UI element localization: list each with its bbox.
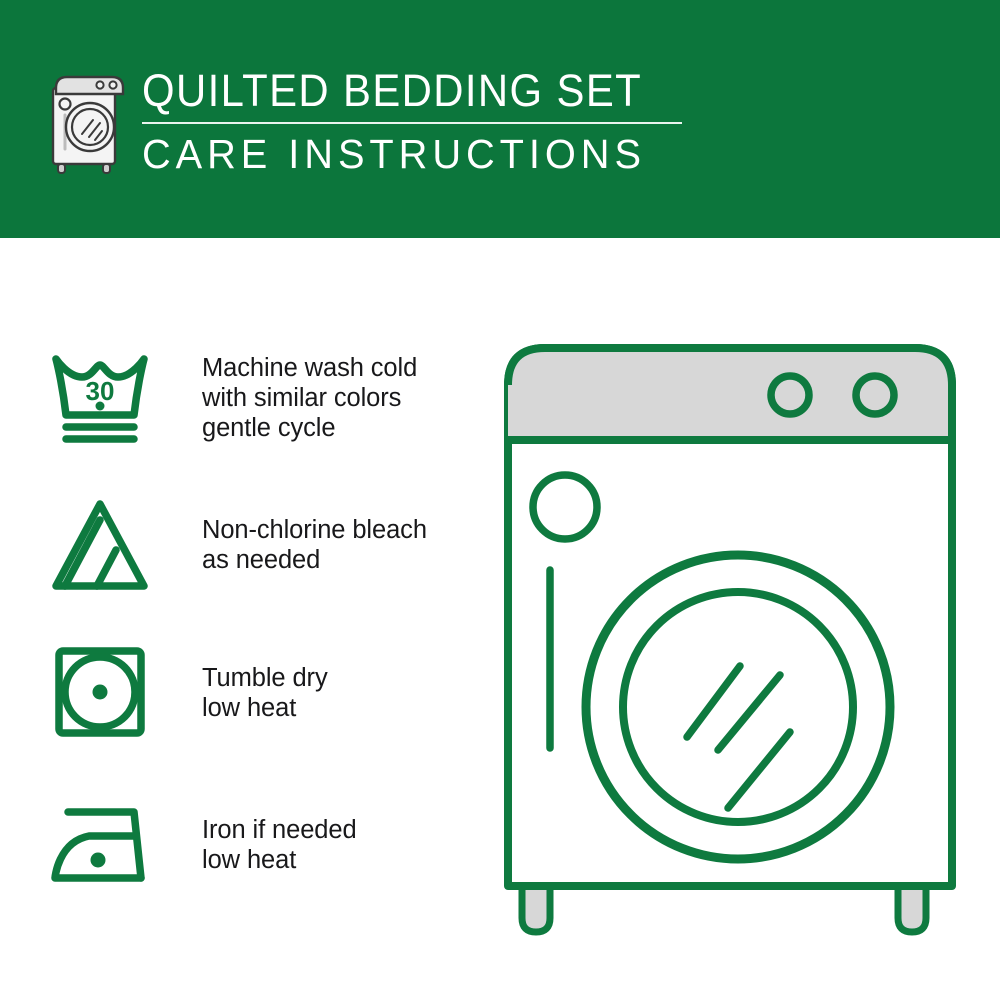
care-row-tumble-dry: Tumble dry low heat [44, 638, 484, 748]
non-chlorine-bleach-triangle-icon [44, 490, 156, 600]
care-row-bleach: Non-chlorine bleach as needed [44, 490, 484, 600]
machine-control-panel [508, 348, 952, 440]
machine-leg-left [522, 884, 550, 932]
wash-tub-30-gentle-icon: 30 [44, 343, 156, 453]
front-load-washing-machine-illustration [490, 330, 970, 950]
title-divider [142, 122, 682, 124]
header-title-block: QUILTED BEDDING SET CARE INSTRUCTIONS [142, 62, 682, 177]
header-band: QUILTED BEDDING SET CARE INSTRUCTIONS [0, 0, 1000, 238]
care-label-machine-wash: Machine wash cold with similar colors ge… [202, 353, 417, 443]
care-label-tumble-dry: Tumble dry low heat [202, 663, 328, 723]
washing-machine-icon [44, 64, 128, 176]
header-content: QUILTED BEDDING SET CARE INSTRUCTIONS [44, 62, 682, 177]
iron-low-heat-icon [44, 790, 156, 900]
care-instruction-list: 30 Machine wash cold with similar colors… [0, 238, 500, 1000]
page-title: QUILTED BEDDING SET [142, 66, 644, 116]
care-row-iron: Iron if needed low heat [44, 790, 484, 900]
care-label-iron: Iron if needed low heat [202, 815, 357, 875]
care-label-bleach: Non-chlorine bleach as needed [202, 515, 427, 575]
machine-leg-right [898, 884, 926, 932]
tumble-dry-low-heat-icon [44, 638, 156, 748]
care-row-machine-wash: 30 Machine wash cold with similar colors… [44, 343, 484, 453]
page-subtitle: CARE INSTRUCTIONS [142, 131, 666, 177]
